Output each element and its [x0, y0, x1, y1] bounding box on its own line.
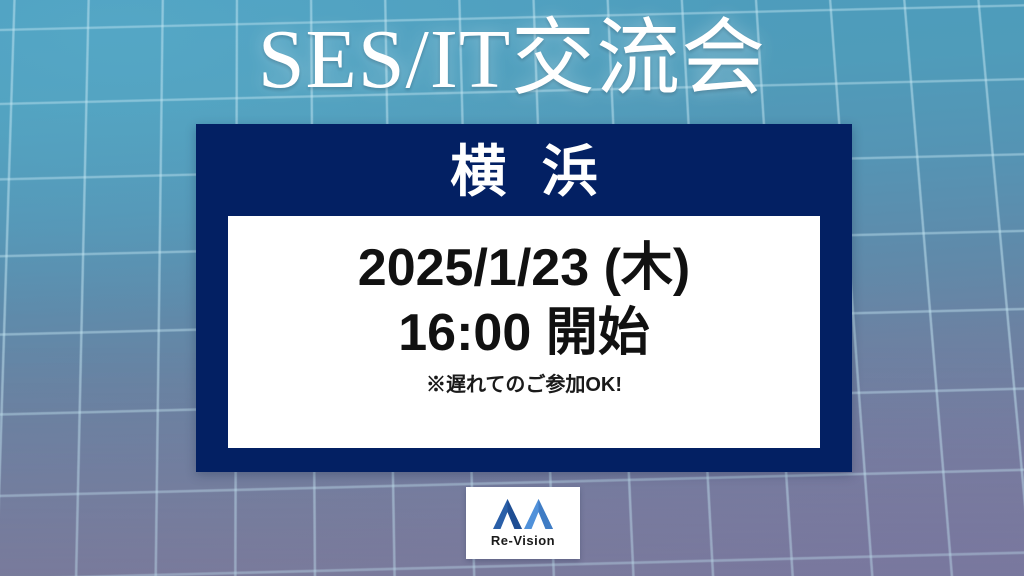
details-card: 2025/1/23 (木) 16:00 開始 ※遅れてのご参加OK! [228, 216, 820, 448]
late-arrival-note: ※遅れてのご参加OK! [426, 372, 622, 398]
city-heading: 横 浜 [196, 130, 852, 214]
event-poster: SES/IT交流会 横 浜 2025/1/23 (木) 16:00 開始 ※遅れ… [0, 0, 1024, 576]
m-peaks-logo-icon [492, 498, 554, 530]
event-time: 16:00 開始 [398, 300, 649, 366]
brand-name: Re-Vision [491, 533, 555, 548]
poster-title: SES/IT交流会 [0, 8, 1024, 112]
navy-panel: 横 浜 2025/1/23 (木) 16:00 開始 ※遅れてのご参加OK! [196, 124, 852, 472]
event-date: 2025/1/23 (木) [358, 236, 690, 300]
brand-logo: Re-Vision [466, 487, 580, 559]
